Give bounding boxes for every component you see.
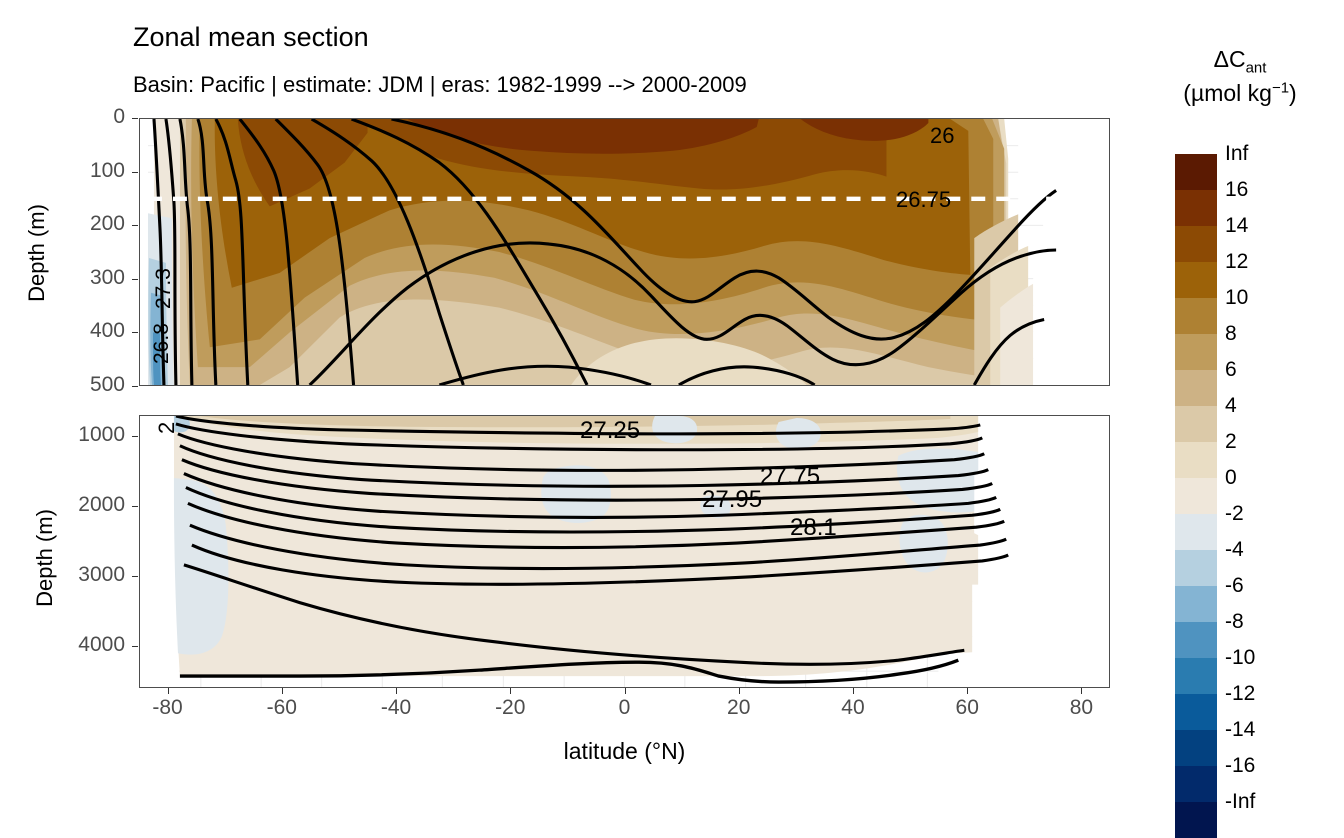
- legend-tick-label: 4: [1225, 394, 1305, 418]
- legend-tick-label: 2: [1225, 430, 1305, 454]
- y-tick-label: 500: [35, 373, 125, 397]
- legend-swatch[interactable]: [1175, 730, 1217, 766]
- chart-root: Zonal mean section Basin: Pacific | esti…: [0, 0, 1344, 806]
- y-tick-mark: [132, 506, 138, 507]
- legend-tick-label: 6: [1225, 358, 1305, 382]
- y-tick-mark: [132, 172, 138, 173]
- contour-label-27-3: 27.3: [152, 268, 176, 309]
- legend-tick-label: -16: [1225, 754, 1305, 778]
- y-tick-label: 4000: [35, 633, 125, 657]
- legend-swatch[interactable]: [1175, 154, 1217, 190]
- legend-swatch[interactable]: [1175, 262, 1217, 298]
- legend-tick-label: 14: [1225, 214, 1305, 238]
- plot-subtitle: Basin: Pacific | estimate: JDM | eras: 1…: [133, 72, 747, 98]
- contour-label-2: 2: [154, 422, 180, 434]
- legend-tick-label: -10: [1225, 646, 1305, 670]
- legend-swatch[interactable]: [1175, 514, 1217, 550]
- y-tick-label: 400: [35, 319, 125, 343]
- contour-label-26-75: 26.75: [896, 187, 951, 213]
- legend-swatch[interactable]: [1175, 226, 1217, 262]
- x-tick-mark: [396, 688, 397, 694]
- legend-tick-label: -Inf: [1225, 790, 1305, 814]
- legend-swatch[interactable]: [1175, 802, 1217, 838]
- legend-tick-label: -4: [1225, 538, 1305, 562]
- legend-swatch[interactable]: [1175, 298, 1217, 334]
- legend-title-delta-c: ΔC: [1214, 46, 1246, 72]
- contour-label-27-95: 27.95: [702, 486, 762, 514]
- x-tick-label: -60: [247, 696, 317, 720]
- x-tick-label: -40: [361, 696, 431, 720]
- x-tick-label: 40: [818, 696, 888, 720]
- legend-swatch[interactable]: [1175, 442, 1217, 478]
- y-tick-label: 100: [35, 159, 125, 183]
- x-tick-mark: [282, 688, 283, 694]
- contour-label-27-25: 27.25: [580, 417, 640, 445]
- y-tick-mark: [132, 279, 138, 280]
- y-tick-mark: [132, 118, 138, 119]
- x-tick-mark: [967, 688, 968, 694]
- y-tick-label: 300: [35, 266, 125, 290]
- legend-swatch[interactable]: [1175, 622, 1217, 658]
- legend-swatch[interactable]: [1175, 406, 1217, 442]
- x-tick-mark: [625, 688, 626, 694]
- x-axis-title: latitude (°N): [139, 738, 1110, 765]
- legend-tick-label: 8: [1225, 322, 1305, 346]
- upper-panel-canvas: [140, 119, 1109, 385]
- legend-units-suffix: ): [1289, 80, 1297, 106]
- legend: ΔCant (µmol kg−1) Inf1614121086420-2-4-6…: [1152, 44, 1332, 109]
- x-tick-mark: [739, 688, 740, 694]
- y-tick-mark: [132, 576, 138, 577]
- y-tick-label: 200: [35, 212, 125, 236]
- contour-label-28-1: 28.1: [790, 514, 837, 542]
- x-tick-mark: [1081, 688, 1082, 694]
- legend-tick-label: -2: [1225, 502, 1305, 526]
- legend-tick-label: 12: [1225, 250, 1305, 274]
- y-tick-mark: [132, 436, 138, 437]
- y-tick-label: 2000: [35, 493, 125, 517]
- page-title: Zonal mean section: [133, 22, 369, 53]
- legend-tick-label: 16: [1225, 178, 1305, 202]
- legend-swatch[interactable]: [1175, 370, 1217, 406]
- x-tick-label: 80: [1046, 696, 1116, 720]
- y-tick-mark: [132, 332, 138, 333]
- legend-tick-label: 10: [1225, 286, 1305, 310]
- x-tick-label: 20: [704, 696, 774, 720]
- x-tick-mark: [510, 688, 511, 694]
- legend-swatch[interactable]: [1175, 658, 1217, 694]
- y-tick-label: 0: [35, 105, 125, 129]
- legend-units-exponent: −1: [1272, 80, 1289, 97]
- legend-tick-label: -12: [1225, 682, 1305, 706]
- x-tick-label: 0: [590, 696, 660, 720]
- lower-panel-canvas: [140, 416, 1109, 687]
- x-tick-mark: [853, 688, 854, 694]
- x-tick-label: 60: [932, 696, 1002, 720]
- legend-swatch[interactable]: [1175, 766, 1217, 802]
- lower-depth-panel: 2 27.25 27.75 27.95 28.1: [139, 415, 1110, 688]
- contour-label-26: 26: [930, 123, 954, 149]
- y-tick-label: 1000: [35, 423, 125, 447]
- y-tick-mark: [132, 646, 138, 647]
- legend-units-prefix: (µmol kg: [1183, 80, 1272, 106]
- legend-tick-label: -6: [1225, 574, 1305, 598]
- legend-swatch[interactable]: [1175, 334, 1217, 370]
- upper-depth-panel: 26 26.75 27.3 26.8: [139, 118, 1110, 386]
- y-tick-label: 3000: [35, 563, 125, 587]
- contour-label-26-8: 26.8: [150, 323, 174, 364]
- x-tick-label: -80: [133, 696, 203, 720]
- contour-label-27-75: 27.75: [760, 463, 820, 491]
- legend-tick-label: -8: [1225, 610, 1305, 634]
- y-tick-mark: [132, 225, 138, 226]
- legend-tick-label: 0: [1225, 466, 1305, 490]
- legend-title-subscript: ant: [1246, 60, 1267, 77]
- x-tick-mark: [168, 688, 169, 694]
- legend-swatch[interactable]: [1175, 694, 1217, 730]
- legend-tick-label: -14: [1225, 718, 1305, 742]
- x-tick-label: -20: [475, 696, 545, 720]
- legend-swatch[interactable]: [1175, 586, 1217, 622]
- legend-title: ΔCant (µmol kg−1): [1152, 44, 1328, 109]
- legend-swatch[interactable]: [1175, 478, 1217, 514]
- legend-tick-label: Inf: [1225, 142, 1305, 166]
- legend-swatch[interactable]: [1175, 190, 1217, 226]
- legend-swatch[interactable]: [1175, 550, 1217, 586]
- y-tick-mark: [132, 386, 138, 387]
- y-axis-title-upper: Depth (m): [24, 183, 50, 323]
